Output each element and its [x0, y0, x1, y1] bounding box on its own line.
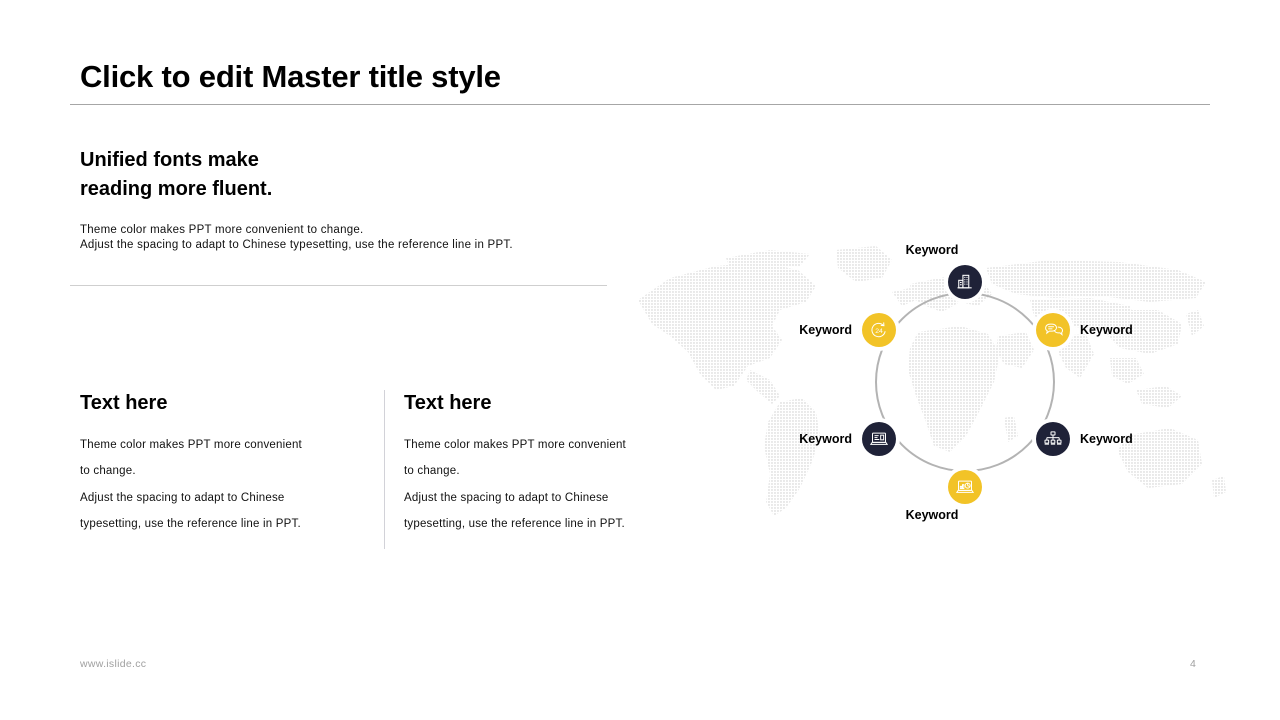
keyword-label-top: Keyword	[906, 243, 959, 257]
column-2-line-2: to change.	[404, 458, 694, 484]
lead-body: Theme color makes PPT more convenient to…	[80, 223, 640, 253]
column-2-line-1: Theme color makes PPT more convenient	[404, 432, 694, 458]
chat-bubbles-icon	[1043, 320, 1063, 340]
lead-body-line-1: Theme color makes PPT more convenient to…	[80, 223, 640, 238]
diagram-node-bottom-left[interactable]	[862, 422, 896, 456]
column-1-body: Theme color makes PPT more convenient to…	[80, 432, 370, 538]
laptop-chart-icon	[955, 477, 975, 497]
keyword-label-right: Keyword	[1080, 323, 1133, 337]
footer-url[interactable]: www.islide.cc	[80, 658, 146, 670]
diagram-node-bottom[interactable]	[948, 470, 982, 504]
keyword-circle-diagram: Keyword 24 Keyword K	[810, 232, 1120, 532]
column-1-line-2: to change.	[80, 458, 370, 484]
keyword-label-bottom-left: Keyword	[799, 432, 852, 446]
text-column-1: Text here Theme color makes PPT more con…	[80, 392, 370, 538]
page-number: 4	[1190, 658, 1196, 670]
lead-heading-line-2: reading more fluent.	[80, 175, 600, 204]
office-building-icon	[955, 272, 975, 292]
diagram-node-left[interactable]: 24	[862, 313, 896, 347]
network-tree-icon	[1043, 429, 1063, 449]
column-1-heading: Text here	[80, 392, 370, 414]
column-1-line-3: Adjust the spacing to adapt to Chinese	[80, 485, 370, 511]
diagram-node-right[interactable]	[1036, 313, 1070, 347]
column-1-line-4: typesetting, use the reference line in P…	[80, 511, 370, 537]
column-2-line-4: typesetting, use the reference line in P…	[404, 511, 694, 537]
keyword-label-bottom-right: Keyword	[1080, 432, 1133, 446]
24-hours-icon: 24	[869, 320, 889, 340]
title-divider	[70, 104, 1210, 105]
column-1-line-1: Theme color makes PPT more convenient	[80, 432, 370, 458]
keyword-label-bottom: Keyword	[906, 508, 959, 522]
diagram-ring	[875, 292, 1055, 472]
column-2-heading: Text here	[404, 392, 694, 414]
keyword-label-left: Keyword	[799, 323, 852, 337]
lead-divider	[70, 285, 607, 286]
page-title: Click to edit Master title style	[80, 60, 501, 94]
slide-canvas: Click to edit Master title style Unified…	[0, 0, 1280, 720]
diagram-node-top[interactable]	[948, 265, 982, 299]
column-2-body: Theme color makes PPT more convenient to…	[404, 432, 694, 538]
lead-heading: Unified fonts make reading more fluent.	[80, 146, 600, 204]
text-column-2: Text here Theme color makes PPT more con…	[404, 392, 694, 538]
column-2-line-3: Adjust the spacing to adapt to Chinese	[404, 485, 694, 511]
laptop-code-icon	[869, 429, 889, 449]
lead-body-line-2: Adjust the spacing to adapt to Chinese t…	[80, 238, 640, 253]
lead-heading-line-1: Unified fonts make	[80, 146, 600, 175]
diagram-node-bottom-right[interactable]	[1036, 422, 1070, 456]
svg-text:24: 24	[875, 328, 883, 335]
column-divider	[384, 390, 385, 549]
